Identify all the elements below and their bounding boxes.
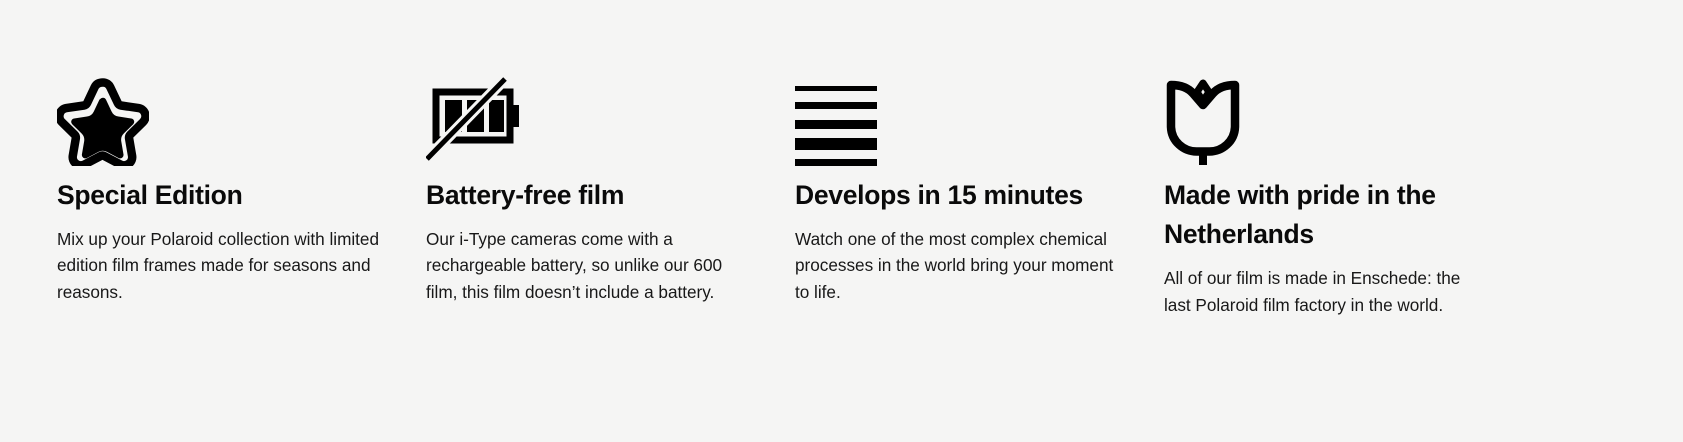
feature-card-made-in-netherlands: Made with pride in the Netherlands All o… xyxy=(1164,0,1533,318)
features-grid: Special Edition Mix up your Polaroid col… xyxy=(57,0,1683,318)
tulip-icon xyxy=(1164,66,1493,166)
feature-description: Watch one of the most complex chemical p… xyxy=(795,215,1124,305)
feature-description: Mix up your Polaroid collection with lim… xyxy=(57,215,379,305)
features-section: Special Edition Mix up your Polaroid col… xyxy=(0,0,1683,442)
feature-title: Battery-free film xyxy=(426,166,755,215)
feature-card-develops-in-15-minutes: Develops in 15 minutes Watch one of the … xyxy=(795,0,1164,305)
feature-title: Develops in 15 minutes xyxy=(795,166,1124,215)
feature-title: Made with pride in the Netherlands xyxy=(1164,166,1464,254)
feature-card-special-edition: Special Edition Mix up your Polaroid col… xyxy=(57,0,426,305)
stacked-bars-icon xyxy=(795,66,1124,166)
feature-description: Our i-Type cameras come with a rechargea… xyxy=(426,215,738,305)
feature-description: All of our film is made in Enschede: the… xyxy=(1164,254,1479,317)
feature-card-battery-free-film: Battery-free film Our i-Type cameras com… xyxy=(426,0,795,305)
battery-crossed-out-icon xyxy=(426,66,755,166)
feature-title: Special Edition xyxy=(57,166,386,215)
star-icon xyxy=(57,66,386,166)
